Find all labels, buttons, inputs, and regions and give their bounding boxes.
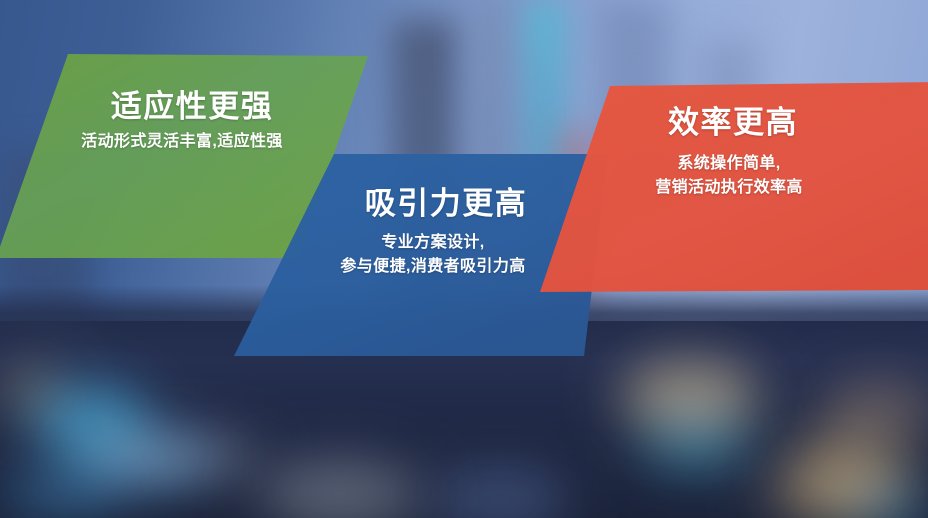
- panel-green-subtitle-line-1: 活动形式灵活丰富,适应性强: [0, 130, 380, 154]
- panel-green-subtitle: 活动形式灵活丰富,适应性强: [0, 130, 380, 154]
- panel-red-subtitle-line-2: 营销活动执行效率高: [520, 176, 928, 200]
- background-light: [0, 370, 60, 410]
- background-light: [0, 470, 120, 518]
- background-light: [640, 410, 750, 470]
- panel-green-title: 适应性更强: [4, 90, 380, 124]
- background-light: [90, 440, 260, 474]
- panel-red-text: 效率更高 系统操作简单, 营销活动执行效率高: [534, 106, 928, 200]
- background-light: [820, 380, 928, 440]
- panel-green-text: 适应性更强 活动形式灵活丰富,适应性强: [0, 90, 380, 154]
- background-light: [760, 470, 870, 518]
- banner-canvas: 适应性更强 活动形式灵活丰富,适应性强 吸引力更高 专业方案设计, 参与便捷,消…: [0, 0, 928, 518]
- panel-red-subtitle-line-1: 系统操作简单,: [520, 152, 928, 176]
- panel-red-title: 效率更高: [528, 106, 928, 140]
- panel-red-subtitle: 系统操作简单, 营销活动执行效率高: [520, 152, 928, 200]
- panel-efficiency[interactable]: 效率更高 系统操作简单, 营销活动执行效率高: [534, 82, 928, 296]
